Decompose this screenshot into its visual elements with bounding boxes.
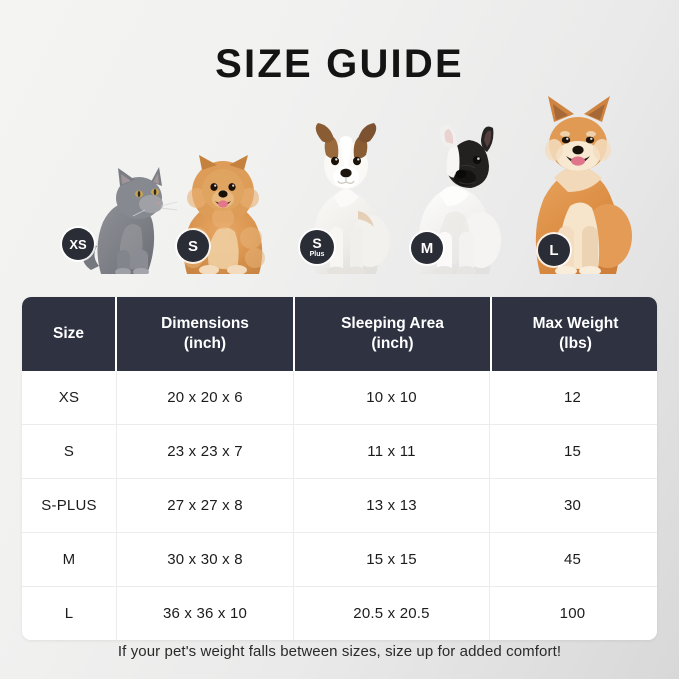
- table-header-sleeping-area-line1: Sleeping Area: [341, 314, 444, 334]
- cell-size: S-PLUS: [22, 479, 116, 532]
- table-header-dimensions: Dimensions (inch): [117, 297, 293, 371]
- cell-size: XS: [22, 371, 116, 424]
- table-header-row: Size Dimensions (inch) Sleeping Area (in…: [22, 297, 657, 371]
- cell-max-weight: 45: [489, 533, 655, 586]
- page-title: SIZE GUIDE: [0, 44, 679, 84]
- size-badge-s-plus-sublabel: Plus: [310, 251, 325, 258]
- cell-dimensions: 23 x 23 x 7: [116, 425, 293, 478]
- cell-sleeping-area: 20.5 x 20.5: [293, 587, 489, 640]
- size-badge-s-plus-label: S: [312, 236, 321, 250]
- cell-size: S: [22, 425, 116, 478]
- cell-size: L: [22, 587, 116, 640]
- table-header-dimensions-line1: Dimensions: [161, 314, 249, 334]
- size-badge-l: L: [538, 234, 570, 266]
- cell-dimensions: 27 x 27 x 8: [116, 479, 293, 532]
- cell-dimensions: 36 x 36 x 10: [116, 587, 293, 640]
- cell-max-weight: 30: [489, 479, 655, 532]
- size-badge-xs: XS: [62, 228, 94, 260]
- table-header-size-line1: Size: [53, 324, 84, 344]
- cell-max-weight: 15: [489, 425, 655, 478]
- animal-figure-s: S: [171, 154, 275, 274]
- size-badge-m: M: [411, 232, 443, 264]
- size-badge-xs-label: XS: [69, 238, 86, 251]
- animal-figure-l: L: [518, 92, 638, 274]
- table-header-size: Size: [22, 297, 115, 371]
- size-guide-table: Size Dimensions (inch) Sleeping Area (in…: [22, 297, 657, 640]
- table-header-max-weight-line2: (lbs): [533, 334, 619, 354]
- cell-max-weight: 100: [489, 587, 655, 640]
- cell-size: M: [22, 533, 116, 586]
- table-row: M 30 x 30 x 8 15 x 15 45: [22, 532, 657, 586]
- table-header-max-weight: Max Weight (lbs): [492, 297, 657, 371]
- table-header-max-weight-line1: Max Weight: [533, 314, 619, 334]
- cell-dimensions: 20 x 20 x 6: [116, 371, 293, 424]
- cell-dimensions: 30 x 30 x 8: [116, 533, 293, 586]
- title-section: SIZE GUIDE: [0, 0, 679, 84]
- animal-figure-m: M: [403, 122, 507, 274]
- animal-figure-s-plus: S Plus: [296, 119, 396, 274]
- size-badge-s: S: [177, 230, 209, 262]
- cell-sleeping-area: 11 x 11: [293, 425, 489, 478]
- cell-sleeping-area: 15 x 15: [293, 533, 489, 586]
- size-badge-s-plus: S Plus: [300, 230, 334, 264]
- cell-sleeping-area: 10 x 10: [293, 371, 489, 424]
- cell-sleeping-area: 13 x 13: [293, 479, 489, 532]
- table-header-sleeping-area-line2: (inch): [341, 334, 444, 354]
- cell-max-weight: 12: [489, 371, 655, 424]
- animal-figure-xs: XS: [73, 162, 181, 274]
- table-row: XS 20 x 20 x 6 10 x 10 12: [22, 371, 657, 424]
- size-badge-l-label: L: [549, 243, 558, 258]
- table-row: L 36 x 36 x 10 20.5 x 20.5 100: [22, 586, 657, 640]
- size-badge-m-label: M: [421, 241, 434, 256]
- shiba-inu-dog-icon: [518, 92, 638, 274]
- grey-shorthair-cat-icon: [73, 162, 181, 274]
- sizing-note: If your pet's weight falls between sizes…: [0, 643, 679, 660]
- table-row: S-PLUS 27 x 27 x 8 13 x 13 30: [22, 478, 657, 532]
- table-header-dimensions-line2: (inch): [161, 334, 249, 354]
- animal-size-illustrations: XS: [0, 92, 679, 274]
- table-row: S 23 x 23 x 7 11 x 11 15: [22, 424, 657, 478]
- size-badge-s-label: S: [188, 239, 198, 254]
- table-header-sleeping-area: Sleeping Area (inch): [295, 297, 490, 371]
